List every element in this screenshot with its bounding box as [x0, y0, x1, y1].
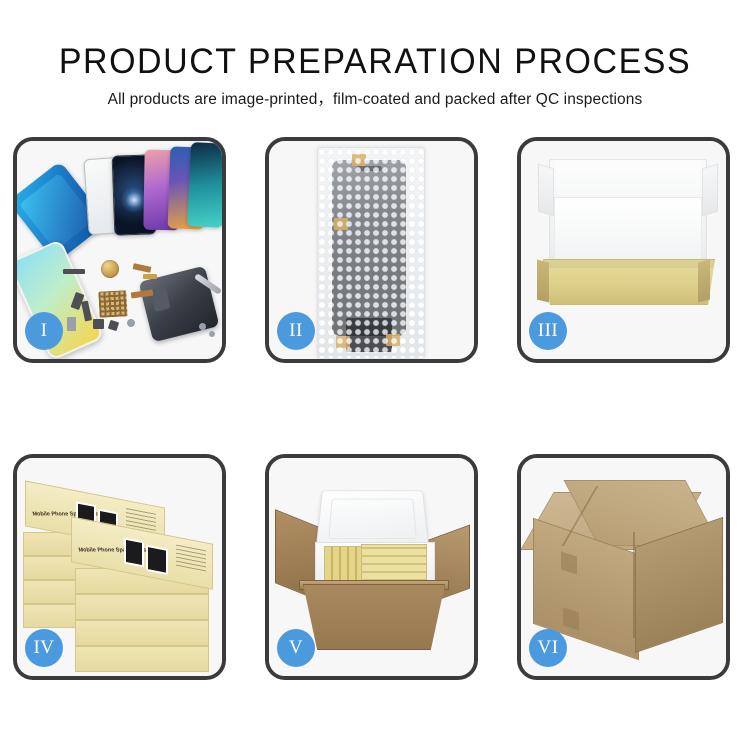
spare-part-connector	[143, 274, 157, 279]
spare-part-flex-cable	[133, 263, 152, 273]
stacked-box-front-2	[75, 594, 209, 620]
tape-piece-middle	[334, 218, 348, 230]
box-thumbnail-front-1	[124, 538, 144, 568]
spare-part-camera-module	[108, 320, 119, 331]
process-step-panel-1[interactable]: I	[13, 137, 226, 363]
spare-part-screw	[127, 319, 135, 327]
kraft-mailer-box-base	[543, 259, 715, 305]
process-step-panel-3[interactable]: III	[517, 137, 730, 363]
step-badge-3: III	[529, 312, 567, 350]
tape-piece-bottom-right	[386, 334, 400, 346]
step-badge-4: IV	[25, 629, 63, 667]
spare-part-sim-tray	[67, 317, 76, 331]
box-spec-lines-front	[176, 544, 206, 572]
tape-piece-top	[352, 154, 366, 166]
spare-part-chip	[63, 269, 85, 274]
stacked-box-front-3	[75, 620, 209, 646]
vibration-motor-icon	[101, 260, 119, 278]
page-header: PRODUCT PREPARATION PROCESS All products…	[0, 0, 750, 130]
wrapped-screen-illustration	[332, 160, 406, 336]
phone-teal-illustration	[187, 142, 226, 228]
process-step-panel-5[interactable]: V	[265, 454, 478, 680]
styrofoam-lid-illustration	[316, 490, 430, 549]
spare-part-screw-2	[199, 323, 206, 330]
step-badge-6: VI	[529, 629, 567, 667]
carton-front-panel	[303, 584, 445, 650]
stacked-box-front-4	[75, 646, 209, 672]
page-title: PRODUCT PREPARATION PROCESS	[11, 0, 739, 82]
step-badge-1: I	[25, 312, 63, 350]
bubble-wrap-bag-illustration	[317, 147, 425, 359]
process-step-panel-4[interactable]: Mobile Phone Spare Parts Mobile Phone Sp…	[13, 454, 226, 680]
spare-part-speaker	[93, 319, 104, 329]
page-subtitle: All products are image-printed，film-coat…	[0, 82, 750, 110]
mailer-box-flap-right	[698, 260, 710, 303]
box-thumbnail-front-2	[146, 545, 168, 575]
logic-board-chip-illustration	[98, 290, 127, 317]
spare-part-screw-3	[209, 331, 215, 337]
process-step-grid: I II III	[13, 137, 737, 680]
carton-vertical-edge	[633, 532, 635, 638]
foam-liner-illustration	[554, 197, 702, 263]
process-step-panel-6[interactable]: VI	[517, 454, 730, 680]
process-step-panel-2[interactable]: II	[265, 137, 478, 363]
step-badge-2: II	[277, 312, 315, 350]
tape-piece-bottom-left	[336, 336, 350, 348]
step-badge-5: V	[277, 629, 315, 667]
mailer-box-flap-left	[537, 260, 549, 303]
